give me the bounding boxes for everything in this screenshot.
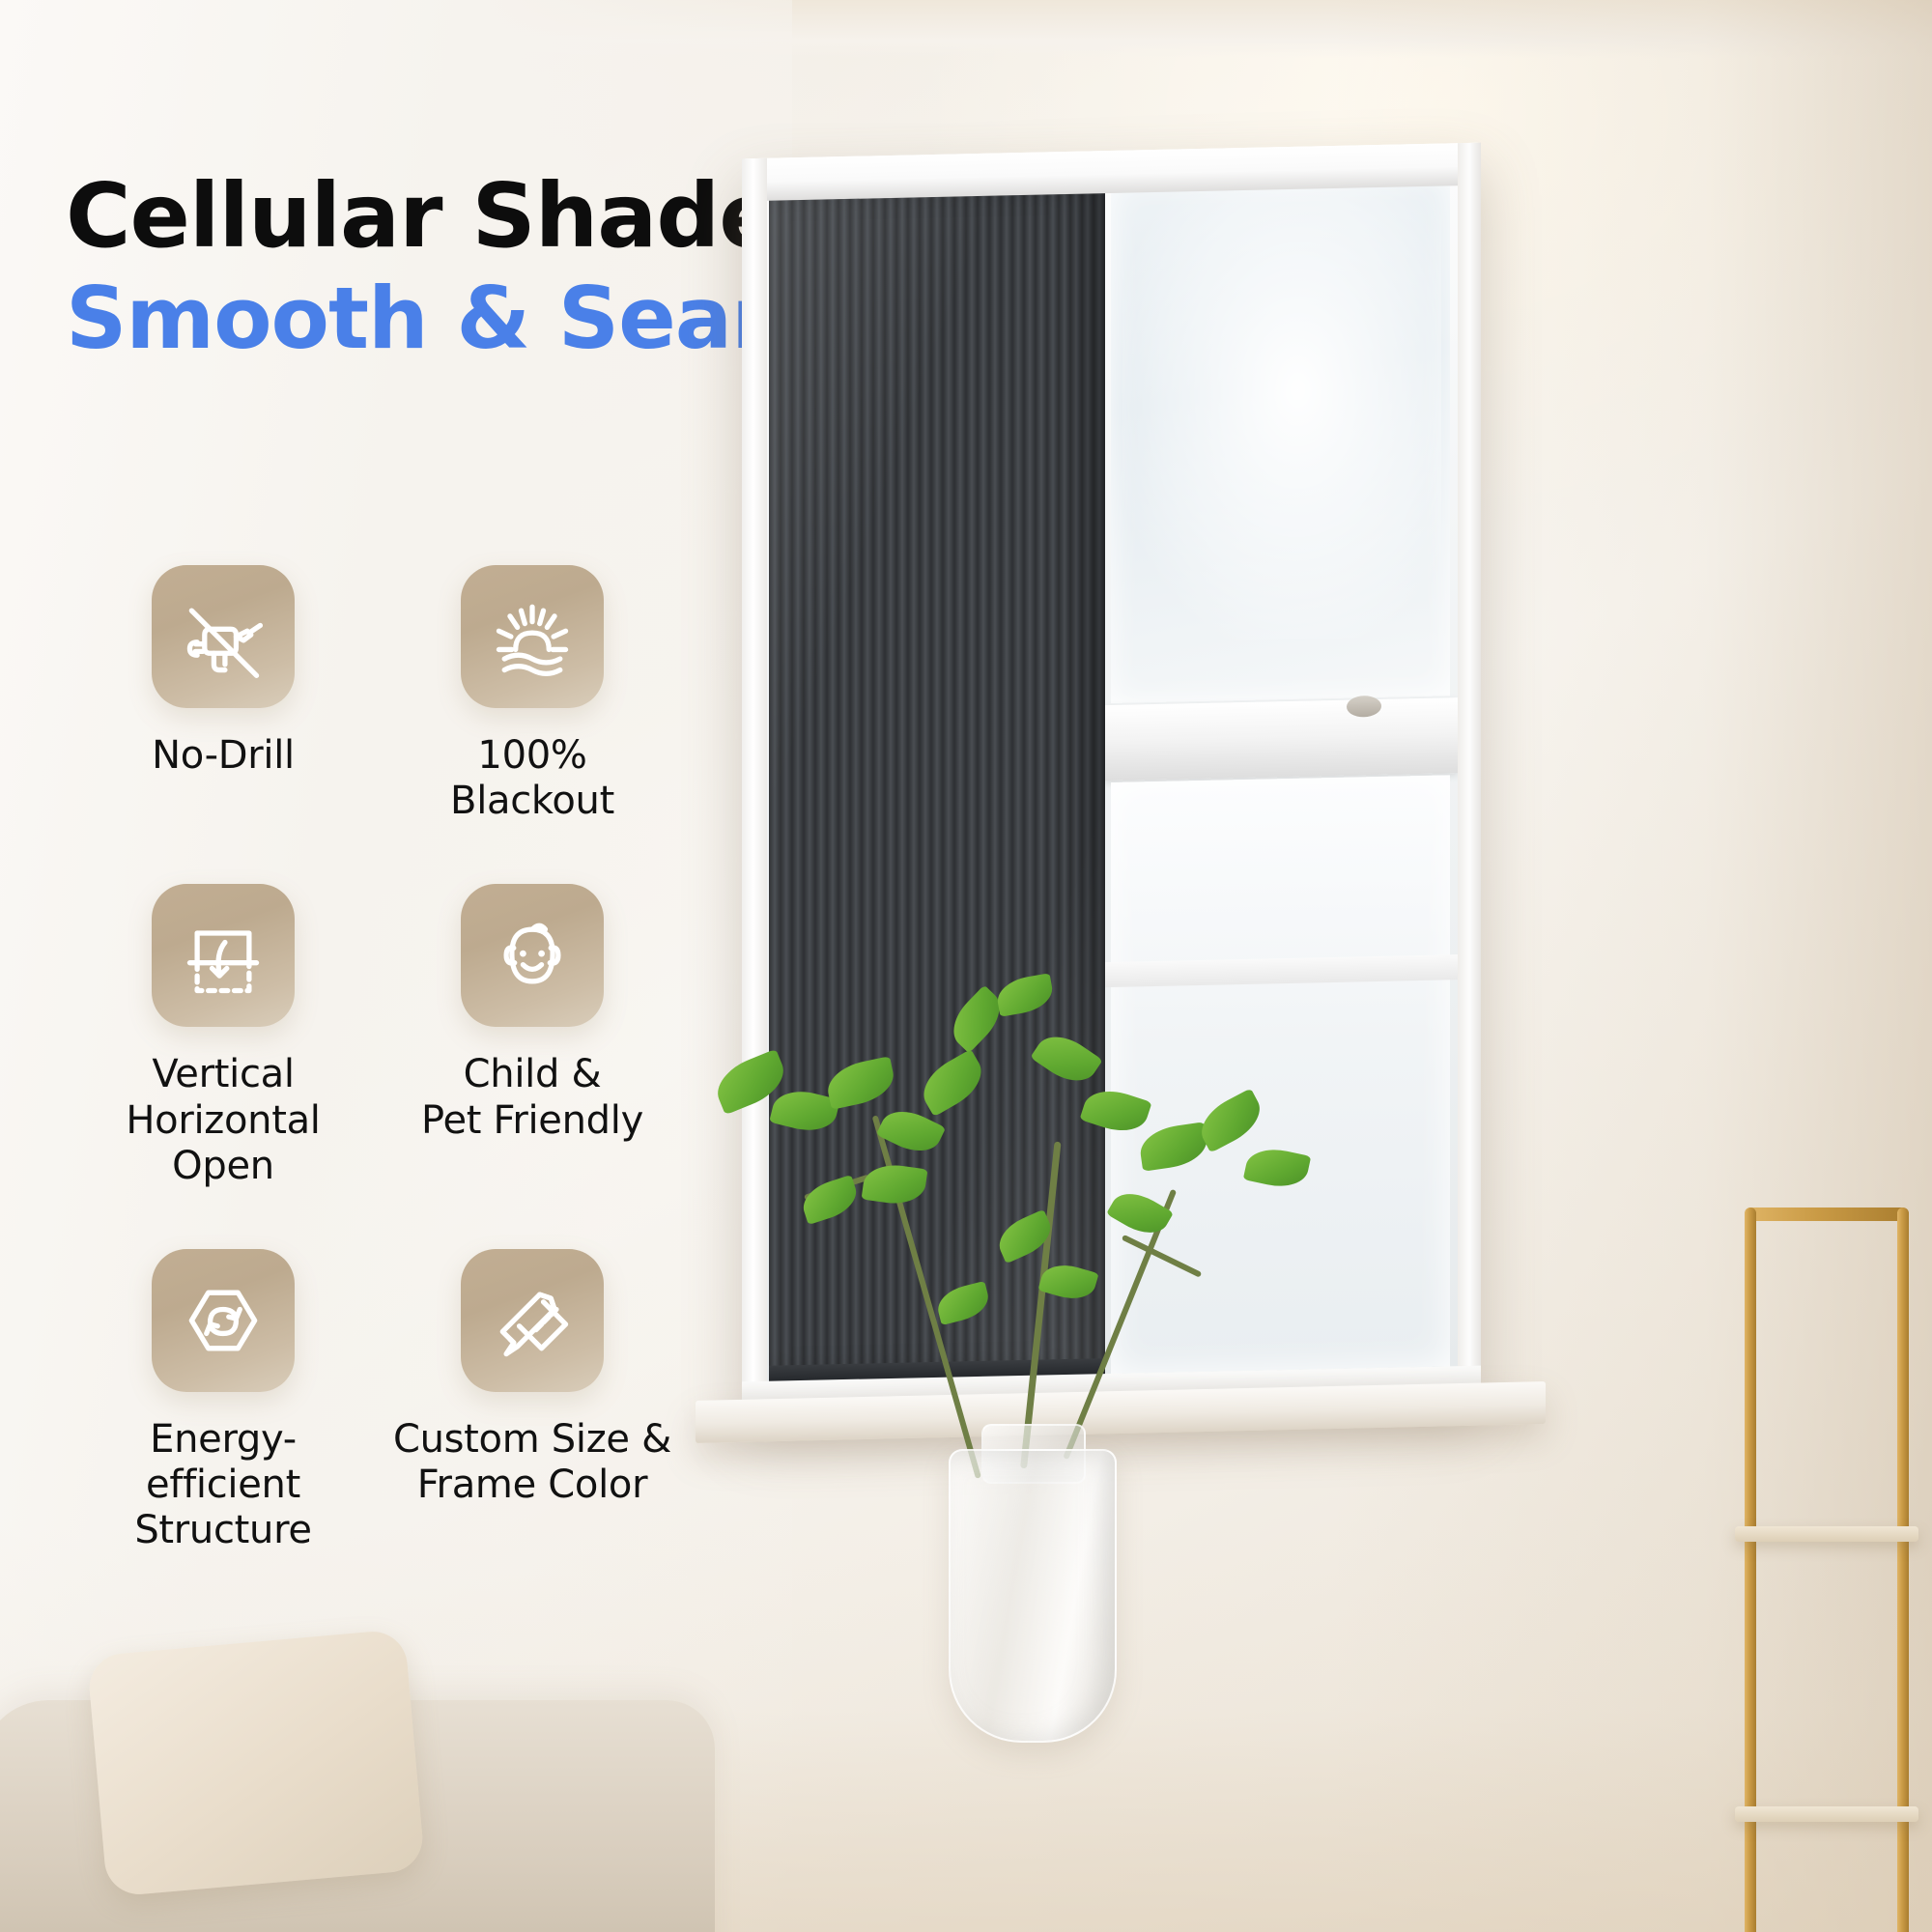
feature-icon-tile (461, 1249, 604, 1392)
feature-label: Child & Pet Friendly (421, 1052, 643, 1143)
feature-item-child-pet-friendly[interactable]: Child & Pet Friendly (392, 884, 672, 1189)
feature-label: Vertical Horizontal Open (83, 1052, 363, 1189)
no-drill-icon (177, 590, 270, 683)
window-sash-rail (1105, 697, 1458, 781)
feature-icon-tile (152, 1249, 295, 1392)
feature-icon-tile (461, 565, 604, 708)
feature-item-vertical-horizontal-open[interactable]: Vertical Horizontal Open (83, 884, 363, 1189)
product-photo (657, 0, 1932, 1932)
feature-label: Energy-efficient Structure (83, 1417, 363, 1554)
potted-plant (657, 947, 1430, 1932)
window-light-glow (1122, 183, 1441, 643)
vertical-horizontal-open-icon (177, 909, 270, 1002)
feature-label: Custom Size & Frame Color (393, 1417, 671, 1508)
product-banner: Cellular Shades Smooth & Seamless (0, 0, 1932, 1932)
feature-icon-tile (461, 884, 604, 1027)
window-frame-right (1458, 143, 1481, 1400)
feature-item-custom-size[interactable]: Custom Size & Frame Color (392, 1249, 672, 1554)
feature-grid: No-Drill 100% Blackout (83, 565, 672, 1554)
feature-item-energy-efficient[interactable]: Energy-efficient Structure (83, 1249, 363, 1554)
feature-label: 100% Blackout (450, 733, 614, 824)
blackout-sun-icon (486, 590, 579, 683)
glass-vase (949, 1449, 1117, 1743)
sofa-cushion (87, 1629, 426, 1897)
feature-icon-tile (152, 565, 295, 708)
feature-label: No-Drill (152, 733, 295, 779)
feature-item-no-drill[interactable]: No-Drill (83, 565, 363, 824)
feature-item-blackout[interactable]: 100% Blackout (392, 565, 672, 824)
child-pet-friendly-icon (486, 909, 579, 1002)
custom-size-icon (486, 1274, 579, 1367)
energy-efficient-icon (177, 1274, 270, 1367)
gold-shelf (1735, 1207, 1918, 1932)
feature-icon-tile (152, 884, 295, 1027)
